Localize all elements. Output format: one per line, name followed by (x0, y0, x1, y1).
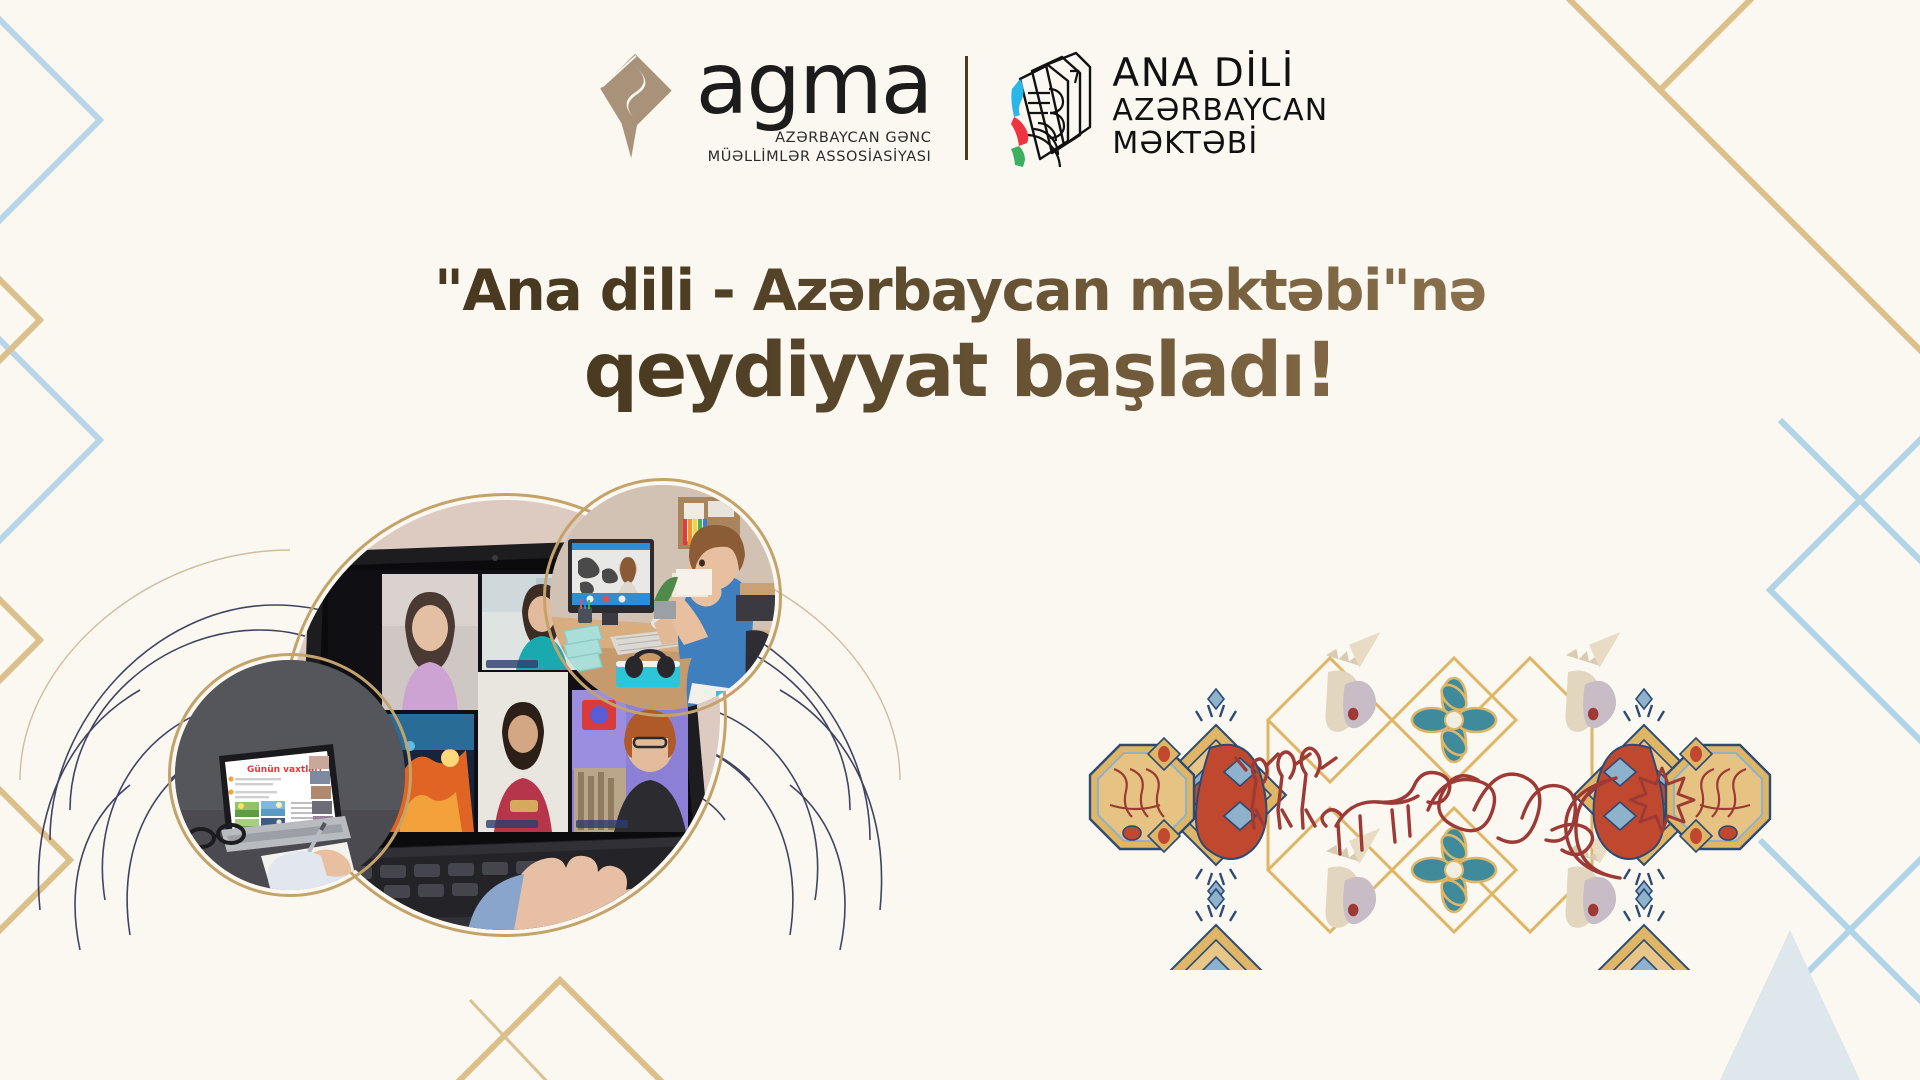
headline-line-1: "Ana dili - Azərbaycan məktəbi"nə (0, 258, 1920, 324)
agma-subtitle-line2: MÜƏLLİMLƏR ASSOSİASİYASI (696, 148, 932, 167)
rosette-top (1412, 678, 1496, 762)
agma-subtitle-line1: AZƏRBAYCAN GƏNC (696, 129, 932, 148)
photo-boy-at-computer (550, 485, 775, 710)
chevron-right-blue-2 (1780, 420, 1920, 630)
photo-tablet-presentation: Günün vaxtları (175, 660, 405, 890)
ana-dili-logo[interactable]: ANA DİLİ AZƏRBAYCAN MƏKTƏBİ (1002, 49, 1328, 167)
agma-diamond-mark (592, 52, 680, 160)
ana-dili-line2: AZƏRBAYCAN (1112, 95, 1328, 127)
ram-head-motif (1565, 632, 1620, 732)
rosette-bottom (1412, 828, 1496, 912)
headline-line-2: qeydiyyat başladı! (0, 326, 1920, 414)
ana-dili-line1: ANA DİLİ (1112, 54, 1328, 94)
flag-stripe-blue (1012, 79, 1024, 117)
agma-logo[interactable]: agma AZƏRBAYCAN GƏNC MÜƏLLİMLƏR ASSOSİAS… (592, 48, 932, 167)
ana-dili-line3: MƏKTƏBİ (1112, 128, 1328, 160)
chevron-bottom-gold-thin-2 (0, 1060, 130, 1080)
ana-dili-books-flag-mark (1002, 49, 1094, 167)
promo-banner: agma AZƏRBAYCAN GƏNC MÜƏLLİMLƏR ASSOSİAS… (0, 0, 1920, 1080)
ram-head-motif (1325, 632, 1380, 732)
photo-collage: tənsil.d (120, 500, 940, 1000)
flag-stripe-green (1011, 146, 1025, 167)
agma-wordmark: agma (696, 48, 932, 122)
ram-head-motif (1325, 828, 1380, 928)
logo-bar: agma AZƏRBAYCAN GƏNC MÜƏLLİMLƏR ASSOSİAS… (0, 48, 1920, 167)
vertical-divider (965, 56, 968, 160)
carpet-medallion-right (1574, 689, 1770, 970)
agma-subtitle: AZƏRBAYCAN GƏNC MÜƏLLİMLƏR ASSOSİASİYASI (696, 129, 932, 167)
azerbaijani-carpet-motif (1060, 620, 1800, 970)
carpet-medallion-left (1090, 689, 1286, 970)
headline: "Ana dili - Azərbaycan məktəbi"nə qeydiy… (0, 258, 1920, 414)
flag-stripe-red (1011, 117, 1028, 146)
chevron-bottom-gold-thin (470, 1000, 640, 1080)
